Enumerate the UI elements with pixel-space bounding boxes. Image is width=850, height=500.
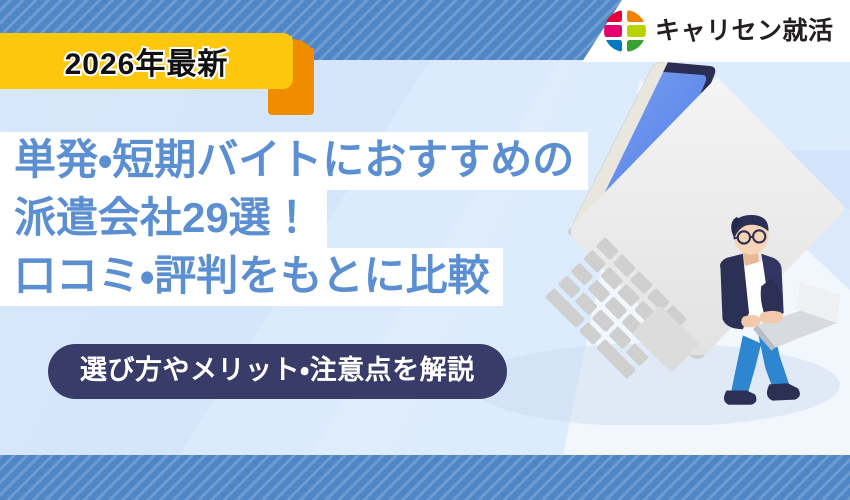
subtitle-badge: 選び方やメリット・注意点を解説 xyxy=(48,344,507,399)
title-line-3: 口コミ・評判をもとに比較 xyxy=(0,248,503,306)
title-line-1: 単発・短期バイトにおすすめの xyxy=(0,132,588,190)
brand-name: キャリセン就活 xyxy=(655,19,834,44)
six-segment-circle-logo-icon xyxy=(604,10,646,52)
bottom-stripe-band xyxy=(0,455,850,500)
page-title: 単発・短期バイトにおすすめの 派遣会社29選！ 口コミ・評判をもとに比較 xyxy=(0,132,588,306)
title-line-2: 派遣会社29選！ xyxy=(0,190,327,248)
banner-canvas: キャリセン就活 2026年最新 単発・短期バイトにおすすめの 派遣会社29選！ … xyxy=(0,0,850,500)
brand-logo[interactable]: キャリセン就活 xyxy=(604,10,834,52)
year-badge-label: 2026年最新 xyxy=(0,33,293,89)
